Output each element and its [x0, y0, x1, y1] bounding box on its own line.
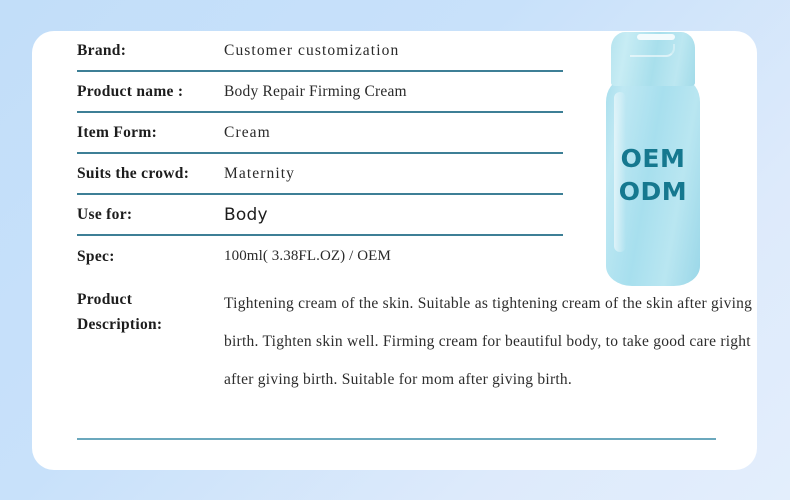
table-row: Spec: 100ml( 3.38FL.OZ) / OEM [77, 236, 563, 277]
table-row: Item Form: Cream [77, 113, 563, 154]
product-description-block: Product Description: Tightening cream of… [77, 285, 761, 399]
spec-value: Cream [224, 124, 271, 142]
table-row: Brand: Customer customization [77, 31, 563, 72]
spec-label: Item Form: [77, 124, 224, 142]
spec-table: Brand: Customer customization Product na… [77, 31, 563, 277]
table-row: Suits the crowd: Maternity [77, 154, 563, 195]
spec-label: Product name : [77, 83, 224, 101]
product-description-text: Tightening cream of the skin. Suitable a… [224, 285, 761, 399]
bottle-label-line2: ODM [606, 175, 700, 208]
product-info-card: Brand: Customer customization Product na… [32, 31, 757, 470]
spec-label: Spec: [77, 248, 224, 266]
spec-value: Body [224, 205, 268, 225]
spec-value: 100ml( 3.38FL.OZ) / OEM [224, 248, 391, 265]
product-description-label-line2: Description: [77, 312, 224, 337]
description-divider [77, 438, 716, 440]
product-info-card-page: { "card": { "spec_rows": [ { "label": "B… [0, 0, 790, 500]
product-description-label-line1: Product [77, 287, 224, 312]
spec-label: Brand: [77, 42, 224, 60]
spec-label: Suits the crowd: [77, 165, 224, 183]
bottle-label-text: OEM ODM [606, 142, 700, 208]
bottle-cap-notch [630, 44, 675, 57]
bottle-cap-shape [611, 32, 695, 86]
bottle-cap-strip [637, 34, 675, 40]
spec-value: Customer customization [224, 42, 399, 60]
spec-value: Maternity [224, 165, 295, 183]
spec-label: Use for: [77, 206, 224, 224]
table-row: Product name : Body Repair Firming Cream [77, 72, 563, 113]
spec-value: Body Repair Firming Cream [224, 83, 407, 101]
table-row: Use for: Body [77, 195, 563, 236]
product-bottle-image: OEM ODM [598, 32, 708, 292]
product-description-label: Product Description: [77, 285, 224, 399]
bottle-label-line1: OEM [606, 142, 700, 175]
